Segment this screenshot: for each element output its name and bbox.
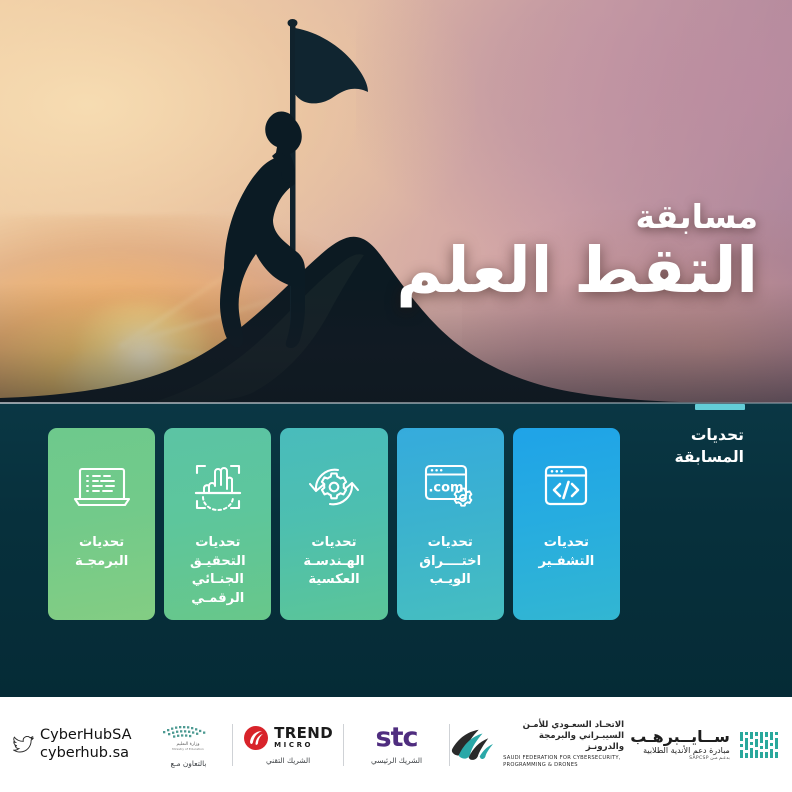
federation-name-ar-2: السيبـراني والبرمجة والدرونـز — [503, 731, 624, 753]
stc-caption: الشريك الرئيسي — [371, 756, 422, 765]
challenge-card-label: تحديات اختــــراق الويـب — [413, 534, 487, 590]
gear-cycle-icon — [304, 456, 364, 518]
challenge-card-web-hacking[interactable]: .com تحديات اختــــراق الويـب — [397, 428, 504, 620]
challenge-card-reverse-engineering[interactable]: تحديات الهـندسـة العكسية — [280, 428, 387, 620]
label-line-2: الهـندسـة — [303, 553, 364, 572]
challenge-card-label: تحديات البرمجـة — [69, 534, 134, 571]
federation-name-en-1: SAUDI FEDERATION FOR CYBERSECURITY, — [503, 755, 624, 762]
challenge-card-list: تحديات البرمجـة تحديات التحقيـق الجنـائي — [48, 428, 620, 620]
laptop-code-icon — [72, 456, 132, 518]
trend-micro-logo — [243, 725, 269, 751]
hero-title-block: مسابقة التقط العلم — [396, 200, 758, 303]
label-line-4: الرقمـي — [190, 590, 246, 609]
hero-title-small: مسابقة — [396, 200, 758, 235]
svg-text:Ministry of Education: Ministry of Education — [173, 747, 205, 751]
sapcsp-subtext: بدعـم مـن SAPCSP — [630, 756, 730, 761]
label-line-1: تحديات — [538, 534, 594, 553]
hero-banner: مسابقة التقط العلم — [0, 0, 792, 403]
label-line-3: العكسية — [303, 571, 364, 590]
sapcsp-tagline: مبادرة دعم الأندية الطلابية — [630, 746, 730, 756]
hand-scan-icon — [189, 456, 247, 518]
ministry-of-education-logo: وزارة التعليم Ministry of Education — [155, 722, 221, 754]
section-accent-bar — [695, 404, 745, 410]
twitter-bird-icon — [13, 736, 34, 754]
cyberhub-website: cyberhub.sa — [40, 745, 131, 762]
footer-sapcsp[interactable]: ســايــبرهـب مبادرة دعم الأندية الطلابية… — [624, 728, 792, 762]
footer-trend-micro[interactable]: TREND MICRO الشريك التقني — [233, 725, 342, 765]
trend-micro-name: TREND — [274, 726, 333, 740]
ministry-caption: بالتعاون مـع — [170, 759, 206, 768]
label-line-2: التشفـير — [538, 553, 594, 572]
browser-code-icon — [539, 456, 593, 518]
challenge-card-label: تحديات الهـندسـة العكسية — [297, 534, 370, 590]
footer-cyberhub[interactable]: CyberHubSA cyberhub.sa — [0, 727, 145, 761]
challenge-card-label: تحديات التحقيـق الجنـائي الرقمـي — [184, 534, 252, 609]
hero-divider — [0, 402, 792, 404]
hero-title-large: التقط العلم — [396, 239, 758, 303]
label-line-1: تحديات — [419, 534, 481, 553]
footer-ministry-of-education[interactable]: وزارة التعليم Ministry of Education بالت… — [145, 722, 233, 768]
sapcsp-pixel-logo — [738, 728, 786, 762]
footer-partners: CyberHubSA cyberhub.sa — [0, 697, 792, 792]
svg-text:.com: .com — [429, 481, 464, 496]
federation-name-ar-1: الاتحـاد السعـودي للأمـن — [503, 720, 624, 731]
cyberhub-handle: CyberHubSA — [40, 727, 131, 744]
challenge-card-programming[interactable]: تحديات البرمجـة — [48, 428, 155, 620]
footer-stc[interactable]: stc الشريك الرئيسي — [344, 724, 449, 765]
poster-root: مسابقة التقط العلم تحديات المسابقة — [0, 0, 792, 792]
label-line-3: الويـب — [419, 571, 481, 590]
challenge-card-digital-forensics[interactable]: تحديات التحقيـق الجنـائي الرقمـي — [164, 428, 271, 620]
federation-name-en-2: PROGRAMMING & DRONES — [503, 762, 624, 769]
label-line-2: البرمجـة — [75, 553, 128, 572]
label-line-2: اختــــراق — [419, 553, 481, 572]
label-line-3: الجنـائي — [190, 571, 246, 590]
challenge-card-label: تحديات التشفـير — [532, 534, 600, 571]
label-line-2: التحقيـق — [190, 553, 246, 572]
label-line-1: تحديات — [303, 534, 364, 553]
browser-dotcom-gear-icon: .com — [421, 456, 479, 518]
saudi-federation-logo — [450, 726, 496, 764]
trend-micro-caption: الشريك التقني — [266, 756, 310, 765]
label-line-1: تحديات — [75, 534, 128, 553]
challenge-card-cryptography[interactable]: تحديات التشفـير — [513, 428, 620, 620]
footer-saudi-federation[interactable]: الاتحـاد السعـودي للأمـن السيبـراني والب… — [450, 720, 624, 769]
stc-logo: stc — [376, 724, 418, 751]
sapcsp-name: ســايــبرهـب — [630, 728, 730, 746]
label-line-1: تحديات — [190, 534, 246, 553]
